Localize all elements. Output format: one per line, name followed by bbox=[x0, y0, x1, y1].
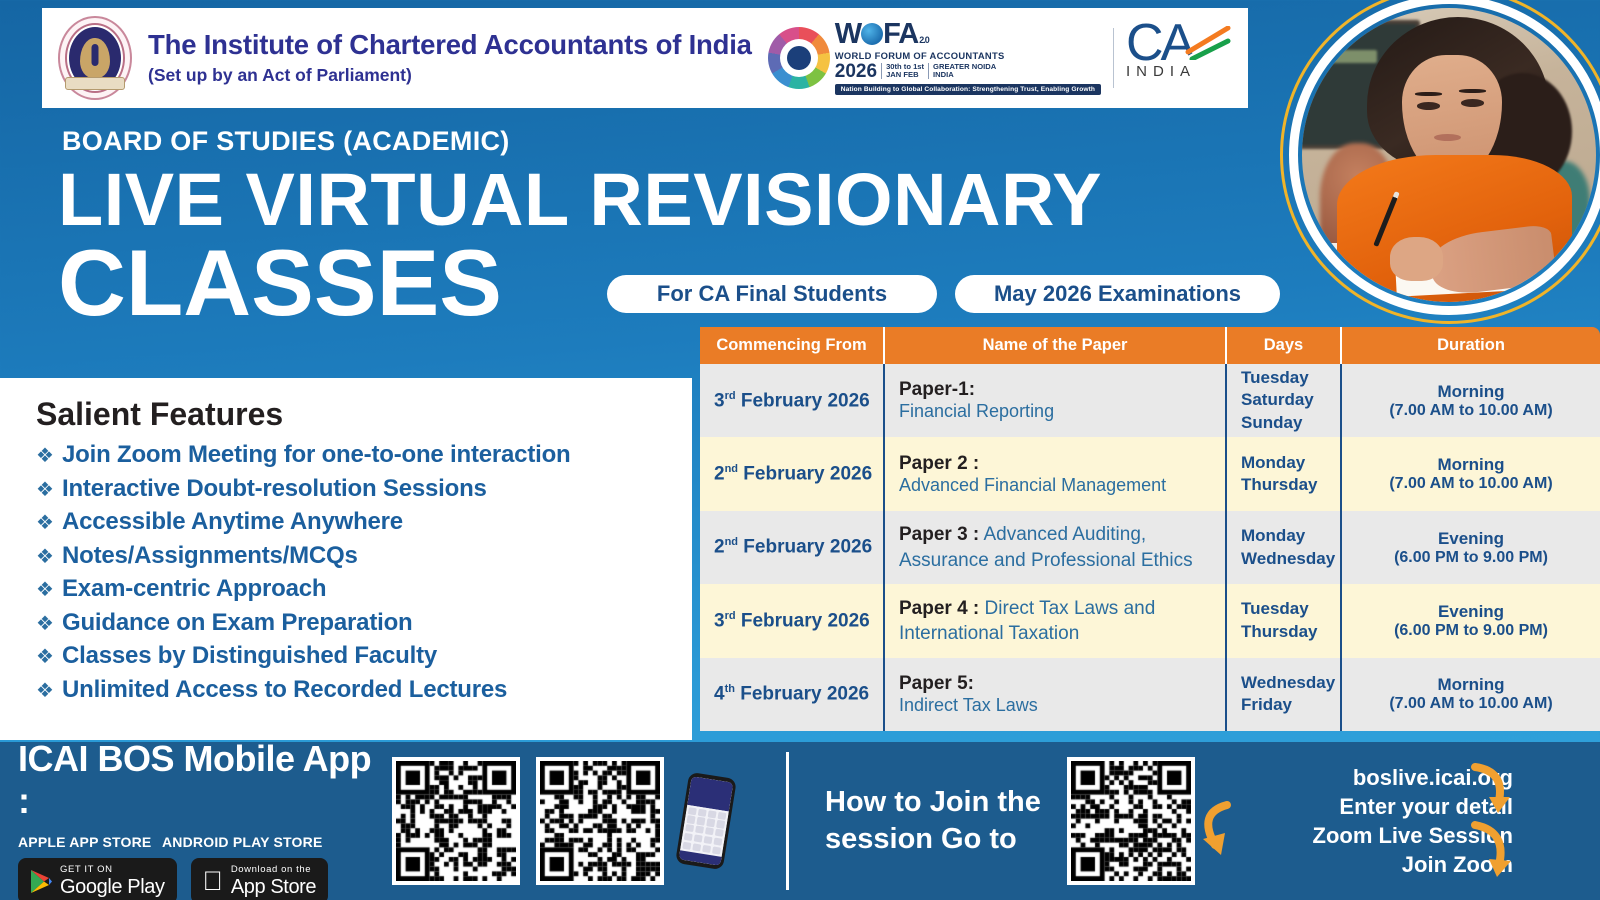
cell-paper-name: Paper 5:Indirect Tax Laws bbox=[885, 658, 1227, 731]
diamond-bullet-icon: ❖ bbox=[36, 513, 62, 533]
column-header-paper: Name of the Paper bbox=[885, 327, 1227, 364]
wofa-version: 2.0 bbox=[919, 36, 929, 45]
feature-item: ❖Accessible Anytime Anywhere bbox=[36, 508, 692, 536]
cell-duration: Evening(6.00 PM to 9.00 PM) bbox=[1342, 584, 1600, 657]
wofa-year: 2026 bbox=[835, 62, 877, 81]
google-play-big: Google Play bbox=[60, 877, 165, 897]
diamond-bullet-icon: ❖ bbox=[36, 547, 62, 567]
column-header-commencing: Commencing From bbox=[700, 327, 885, 364]
wofa-tagline: Nation Building to Global Collaboration:… bbox=[835, 84, 1101, 95]
board-of-studies-label: BOARD OF STUDIES (ACADEMIC) bbox=[62, 126, 510, 157]
diamond-bullet-icon: ❖ bbox=[36, 446, 62, 466]
student-photo bbox=[1280, 0, 1600, 324]
google-play-icon bbox=[30, 869, 52, 894]
qr-apple-app[interactable] bbox=[392, 757, 520, 885]
hero-title-line2: CLASSES bbox=[58, 240, 502, 326]
column-header-days: Days bbox=[1227, 327, 1342, 364]
cell-days: MondayThursday bbox=[1227, 437, 1342, 510]
wofa-wordmark: W FA 2.0 bbox=[835, 21, 929, 49]
icai-emblem-icon bbox=[58, 16, 132, 100]
feature-item: ❖Exam-centric Approach bbox=[36, 575, 692, 603]
feature-label: Guidance on Exam Preparation bbox=[62, 609, 413, 637]
app-store-badge[interactable]:  Download on the App Store bbox=[191, 858, 329, 900]
salient-features-panel: Salient Features ❖Join Zoom Meeting for … bbox=[0, 378, 692, 740]
feature-label: Unlimited Access to Recorded Lectures bbox=[62, 676, 507, 704]
wofa-letter-w: W bbox=[835, 21, 861, 49]
table-header-row: Commencing From Name of the Paper Days D… bbox=[700, 327, 1600, 364]
android-store-label: ANDROID PLAY STORE bbox=[162, 834, 322, 850]
join-step-3: Zoom Live Session bbox=[1313, 823, 1514, 849]
curved-arrow-icon bbox=[1199, 799, 1253, 857]
table-row: 3rd February 2026Paper-1:Financial Repor… bbox=[700, 364, 1600, 437]
diamond-bullet-icon: ❖ bbox=[36, 681, 62, 701]
feature-item: ❖Interactive Doubt-resolution Sessions bbox=[36, 475, 692, 503]
diamond-bullet-icon: ❖ bbox=[36, 647, 62, 667]
cell-days: TuesdaySaturdaySunday bbox=[1227, 364, 1342, 437]
features-list: ❖Join Zoom Meeting for one-to-one intera… bbox=[36, 441, 692, 704]
institute-name: The Institute of Chartered Accountants o… bbox=[148, 30, 752, 60]
cell-duration: Evening(6.00 PM to 9.00 PM) bbox=[1342, 511, 1600, 584]
cell-duration: Morning(7.00 AM to 10.00 AM) bbox=[1342, 437, 1600, 510]
qr-android-app[interactable] bbox=[536, 757, 664, 885]
mobile-app-title: ICAI BOS Mobile App : bbox=[18, 738, 386, 822]
feature-item: ❖Unlimited Access to Recorded Lectures bbox=[36, 676, 692, 704]
cell-days: WednesdayFriday bbox=[1227, 658, 1342, 731]
join-session-section: How to Join the session Go to boslive.ic… bbox=[789, 742, 1600, 900]
feature-label: Accessible Anytime Anywhere bbox=[62, 508, 403, 536]
cell-commencing-date: 2nd February 2026 bbox=[700, 437, 885, 510]
apple-logo-icon:  bbox=[203, 868, 223, 895]
cell-paper-name: Paper 3 : Advanced Auditing, Assurance a… bbox=[885, 511, 1227, 584]
cell-paper-name: Paper-1:Financial Reporting bbox=[885, 364, 1227, 437]
table-row: 3rd February 2026Paper 4 : Direct Tax La… bbox=[700, 584, 1600, 657]
feature-label: Join Zoom Meeting for one-to-one interac… bbox=[62, 441, 571, 469]
app-store-small: Download on the bbox=[231, 865, 316, 875]
cell-duration: Morning(7.00 AM to 10.00 AM) bbox=[1342, 364, 1600, 437]
feature-item: ❖Notes/Assignments/MCQs bbox=[36, 542, 692, 570]
logo-divider bbox=[1113, 28, 1114, 88]
diamond-bullet-icon: ❖ bbox=[36, 614, 62, 634]
exam-pill: May 2026 Examinations bbox=[955, 275, 1280, 313]
cell-commencing-date: 3rd February 2026 bbox=[700, 364, 885, 437]
student-photo-image bbox=[1302, 8, 1596, 302]
diamond-bullet-icon: ❖ bbox=[36, 580, 62, 600]
join-step-4: Join Zoom bbox=[1402, 852, 1513, 878]
cell-days: TuesdayThursday bbox=[1227, 584, 1342, 657]
features-title: Salient Features bbox=[36, 396, 692, 433]
table-row: 2nd February 2026Paper 2 :Advanced Finan… bbox=[700, 437, 1600, 510]
feature-item: ❖Guidance on Exam Preparation bbox=[36, 609, 692, 637]
feature-label: Interactive Doubt-resolution Sessions bbox=[62, 475, 487, 503]
table-row: 4th February 2026Paper 5:Indirect Tax La… bbox=[700, 658, 1600, 731]
wofa-subtitle: WORLD FORUM OF ACCOUNTANTS bbox=[835, 50, 1005, 61]
wofa-globe-icon bbox=[861, 23, 883, 45]
column-header-duration: Duration bbox=[1342, 327, 1600, 364]
wofa-logo: W FA 2.0 WORLD FORUM OF ACCOUNTANTS 2026… bbox=[768, 20, 1248, 96]
hero-title-line1: LIVE VIRTUAL REVISIONARY bbox=[58, 166, 1102, 234]
institute-titles: The Institute of Chartered Accountants o… bbox=[148, 30, 752, 85]
cell-commencing-date: 3rd February 2026 bbox=[700, 584, 885, 657]
cell-paper-name: Paper 4 : Direct Tax Laws and Internatio… bbox=[885, 584, 1227, 657]
cell-days: MondayWednesday bbox=[1227, 511, 1342, 584]
google-play-badge[interactable]: GET IT ON Google Play bbox=[18, 858, 177, 900]
wofa-dates: 30th to 1stJAN FEB bbox=[881, 63, 929, 79]
diamond-bullet-icon: ❖ bbox=[36, 480, 62, 500]
table-row: 2nd February 2026Paper 3 : Advanced Audi… bbox=[700, 511, 1600, 584]
institute-header-bar: The Institute of Chartered Accountants o… bbox=[42, 8, 1248, 108]
wofa-letters-fa: FA bbox=[883, 21, 918, 49]
join-steps: boslive.icai.org Enter your detail Zoom … bbox=[1213, 765, 1513, 878]
app-store-big: App Store bbox=[231, 877, 316, 897]
join-heading: How to Join the session Go to bbox=[825, 784, 1057, 858]
join-step-1: boslive.icai.org bbox=[1353, 765, 1513, 791]
cell-duration: Morning(7.00 AM to 10.00 AM) bbox=[1342, 658, 1600, 731]
apple-store-label: APPLE APP STORE bbox=[18, 834, 148, 850]
join-step-2: Enter your detail bbox=[1339, 794, 1513, 820]
cell-paper-name: Paper 2 :Advanced Financial Management bbox=[885, 437, 1227, 510]
feature-label: Exam-centric Approach bbox=[62, 575, 326, 603]
cell-commencing-date: 4th February 2026 bbox=[700, 658, 885, 731]
wofa-hands-globe-icon bbox=[768, 27, 830, 89]
feature-item: ❖Join Zoom Meeting for one-to-one intera… bbox=[36, 441, 692, 469]
feature-label: Classes by Distinguished Faculty bbox=[62, 642, 437, 670]
tricolour-tick-icon bbox=[1184, 26, 1232, 60]
feature-label: Notes/Assignments/MCQs bbox=[62, 542, 358, 570]
footer-bar: ICAI BOS Mobile App : APPLE APP STORE AN… bbox=[0, 742, 1600, 900]
cell-commencing-date: 2nd February 2026 bbox=[700, 511, 885, 584]
ca-india-logo: CA INDIA bbox=[1126, 20, 1238, 96]
mobile-phone-mockup-icon bbox=[675, 772, 737, 870]
wofa-venue: GREATER NOIDAINDIA bbox=[933, 63, 996, 79]
institute-subtitle: (Set up by an Act of Parliament) bbox=[148, 65, 752, 86]
audience-pill: For CA Final Students bbox=[607, 275, 937, 313]
google-play-small: GET IT ON bbox=[60, 865, 165, 875]
feature-item: ❖Classes by Distinguished Faculty bbox=[36, 642, 692, 670]
ca-india-label: INDIA bbox=[1126, 63, 1238, 80]
qr-join-session[interactable] bbox=[1067, 757, 1195, 885]
table-body: 3rd February 2026Paper-1:Financial Repor… bbox=[700, 364, 1600, 731]
schedule-table: Commencing From Name of the Paper Days D… bbox=[700, 327, 1600, 731]
mobile-app-section: ICAI BOS Mobile App : APPLE APP STORE AN… bbox=[0, 742, 786, 900]
